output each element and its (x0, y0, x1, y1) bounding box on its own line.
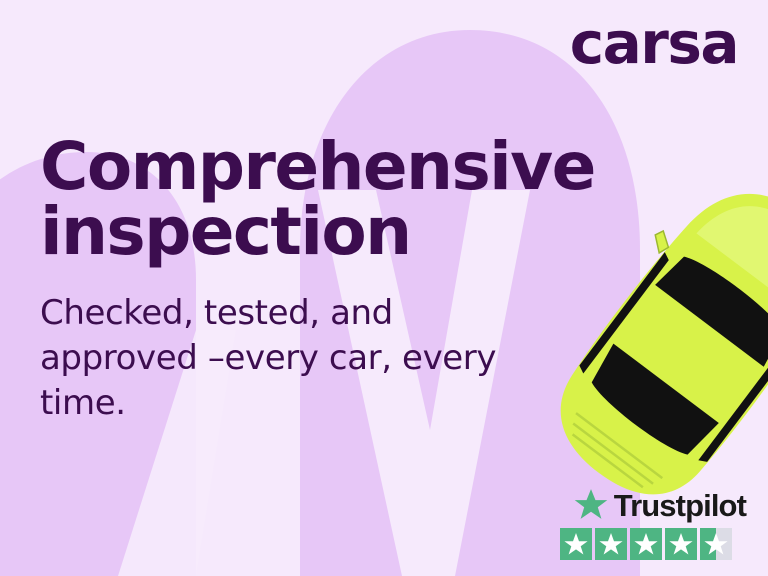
trustpilot-star-3 (630, 528, 662, 560)
headline-line-1: Comprehensive (40, 134, 595, 199)
trustpilot-rating-stars (560, 528, 732, 560)
trustpilot-star-4 (665, 528, 697, 560)
carsa-inspection-ad-banner: carsa Comprehensive inspection Checked, … (0, 0, 768, 576)
headline-line-2: inspection (40, 199, 595, 264)
trustpilot-star-2 (595, 528, 627, 560)
trustpilot-wordmark: Trustpilot (560, 488, 746, 522)
page-title: Comprehensive inspection (40, 134, 595, 265)
subheadline: Checked, tested, and approved –every car… (40, 291, 550, 427)
trustpilot-name: Trustpilot (614, 490, 746, 521)
trustpilot-star-5-half (700, 528, 732, 560)
carsa-logo[interactable]: carsa (570, 14, 738, 72)
trustpilot-badge[interactable]: Trustpilot (560, 488, 746, 560)
trustpilot-star-1 (560, 528, 592, 560)
trustpilot-star-icon (574, 488, 608, 522)
copy-block: Comprehensive inspection Checked, tested… (40, 134, 595, 426)
